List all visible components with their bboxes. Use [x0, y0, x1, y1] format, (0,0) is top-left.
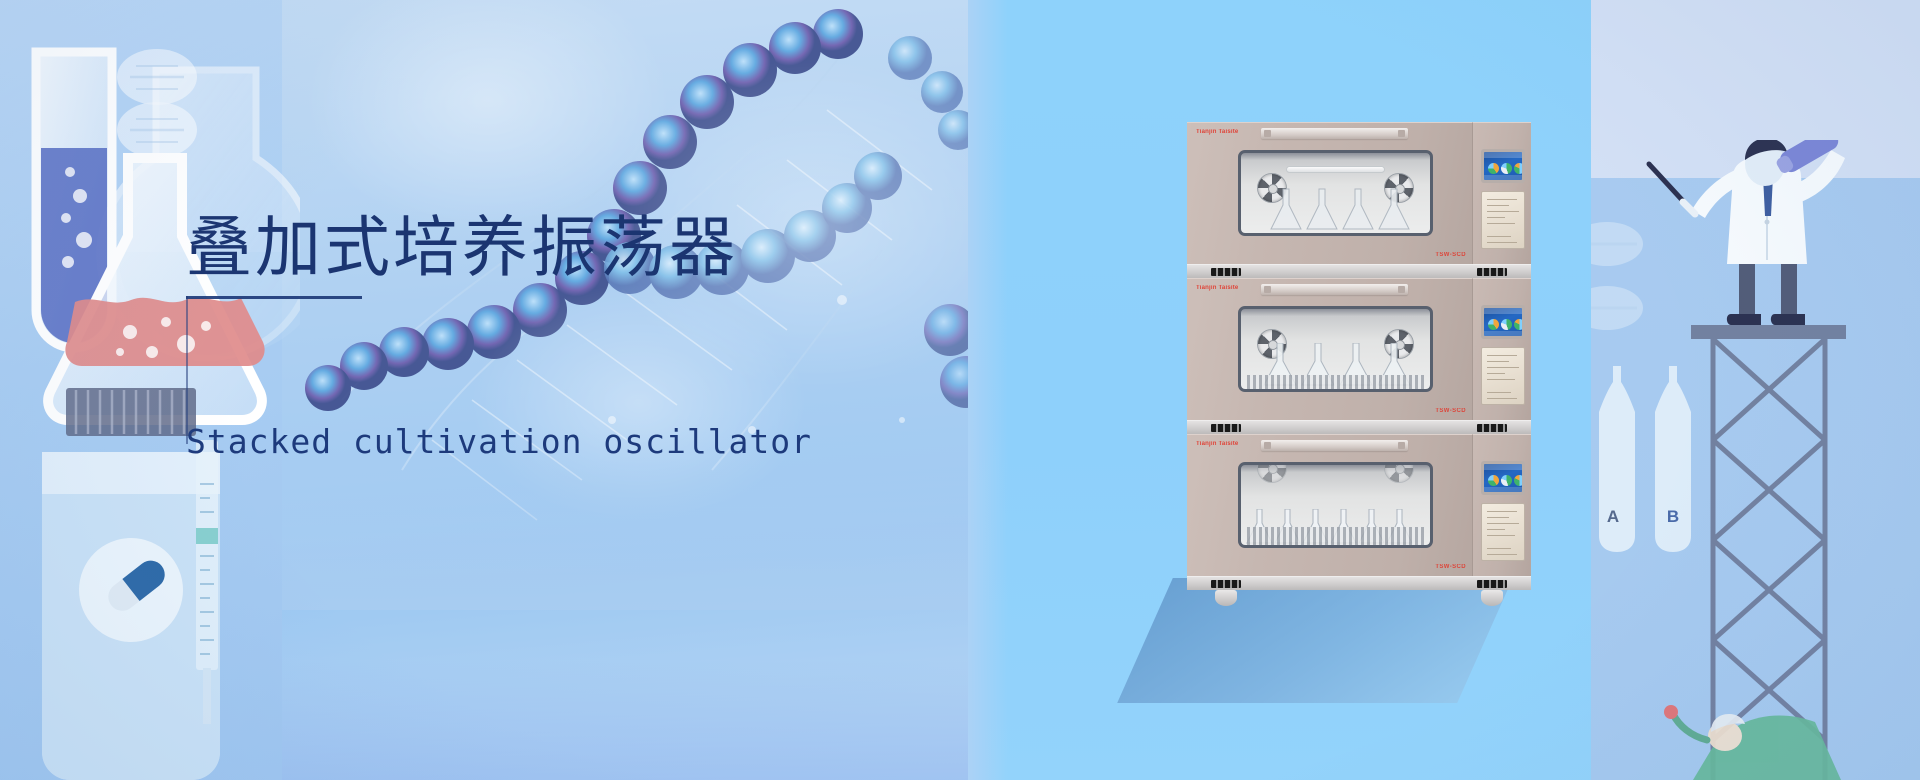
vent-grille-icon	[1477, 424, 1507, 432]
control-panel[interactable]	[1472, 122, 1531, 264]
chamber-window	[1238, 306, 1433, 392]
unit-plinth	[1187, 264, 1531, 278]
shaker-tray	[1247, 527, 1424, 545]
machine-floor-shadow	[1117, 578, 1513, 703]
vent-grille-icon	[1477, 580, 1507, 588]
model-label: TSW-SCD	[1435, 564, 1466, 570]
vent-grille-icon	[1211, 580, 1241, 588]
gauge-temperature-icon	[1488, 319, 1499, 330]
lcd-bezel	[1481, 149, 1525, 183]
unit-body: Tianjin Taisite	[1187, 122, 1472, 264]
shaker-tray	[1247, 375, 1424, 389]
vent-grille-icon	[1211, 424, 1241, 432]
unit-plinth	[1187, 420, 1531, 434]
unit-lower: Tianjin Taisite	[1187, 434, 1531, 576]
lcd-bezel	[1481, 461, 1525, 495]
scientist-with-telescope	[1649, 140, 1845, 325]
dna-ladder-decor	[1591, 222, 1643, 330]
brand-label: Tianjin Taisite	[1196, 129, 1238, 135]
fan-icon	[1257, 462, 1287, 483]
ampoule-a: A	[1599, 366, 1635, 552]
center-panel-edge-blend	[968, 0, 1008, 780]
product-banner: A B	[0, 0, 1920, 780]
lcd-touchscreen[interactable]	[1484, 308, 1522, 336]
gauge-timer-icon	[1514, 163, 1522, 174]
unit-plinth	[1187, 576, 1531, 590]
gauge-speed-icon	[1501, 319, 1512, 330]
gauge-temperature-icon	[1488, 163, 1499, 174]
vent-grille-icon	[1477, 268, 1507, 276]
page-subtitle: Stacked cultivation oscillator	[186, 422, 812, 461]
model-label: TSW-SCD	[1435, 252, 1466, 258]
page-title: 叠加式培养振荡器	[186, 214, 738, 284]
lcd-bezel	[1481, 305, 1525, 339]
unit-middle: Tianjin Taisite	[1187, 278, 1531, 420]
gauge-timer-icon	[1514, 475, 1522, 486]
gauge-timer-icon	[1514, 319, 1522, 330]
door-handle[interactable]	[1261, 284, 1408, 295]
door-handle[interactable]	[1261, 440, 1408, 451]
lattice-tower	[1691, 325, 1846, 780]
panel-bottom-wash	[282, 660, 968, 780]
lcd-touchscreen[interactable]	[1484, 464, 1522, 492]
model-label: TSW-SCD	[1435, 408, 1466, 414]
title-underline	[186, 296, 362, 299]
brand-label: Tianjin Taisite	[1196, 285, 1238, 291]
control-panel[interactable]	[1472, 434, 1531, 576]
unit-upper: Tianjin Taisite	[1187, 122, 1531, 264]
control-panel[interactable]	[1472, 278, 1531, 420]
lcd-touchscreen[interactable]	[1484, 152, 1522, 180]
ampoule-b: B	[1655, 366, 1691, 552]
spec-label-card	[1481, 347, 1525, 405]
flask-group	[1241, 187, 1430, 233]
chamber-window	[1238, 150, 1433, 236]
vent-grille-icon	[1211, 268, 1241, 276]
stacked-cultivation-oscillator: Tianjin Taisite	[1187, 122, 1531, 578]
unit-body: Tianjin Taisite	[1187, 434, 1472, 576]
fan-icon	[1384, 462, 1414, 483]
lab-glassware-illustration	[0, 0, 300, 780]
foot-right	[1481, 590, 1503, 606]
spec-label-card	[1481, 191, 1525, 249]
headline-block: 叠加式培养振荡器	[186, 214, 738, 284]
gauge-temperature-icon	[1488, 475, 1499, 486]
scientist-illustration: A B	[1591, 140, 1920, 780]
gauge-speed-icon	[1501, 163, 1512, 174]
door-handle[interactable]	[1261, 128, 1408, 139]
ampoule-a-label: A	[1607, 507, 1619, 526]
ampoule-b-label: B	[1667, 507, 1679, 526]
interior-light	[1286, 166, 1384, 173]
chamber-window	[1238, 462, 1433, 548]
unit-body: Tianjin Taisite	[1187, 278, 1472, 420]
brand-label: Tianjin Taisite	[1196, 441, 1238, 447]
gauge-speed-icon	[1501, 475, 1512, 486]
spec-label-card	[1481, 503, 1525, 561]
assistant-green-scrubs	[1664, 705, 1841, 780]
foot-left	[1215, 590, 1237, 606]
